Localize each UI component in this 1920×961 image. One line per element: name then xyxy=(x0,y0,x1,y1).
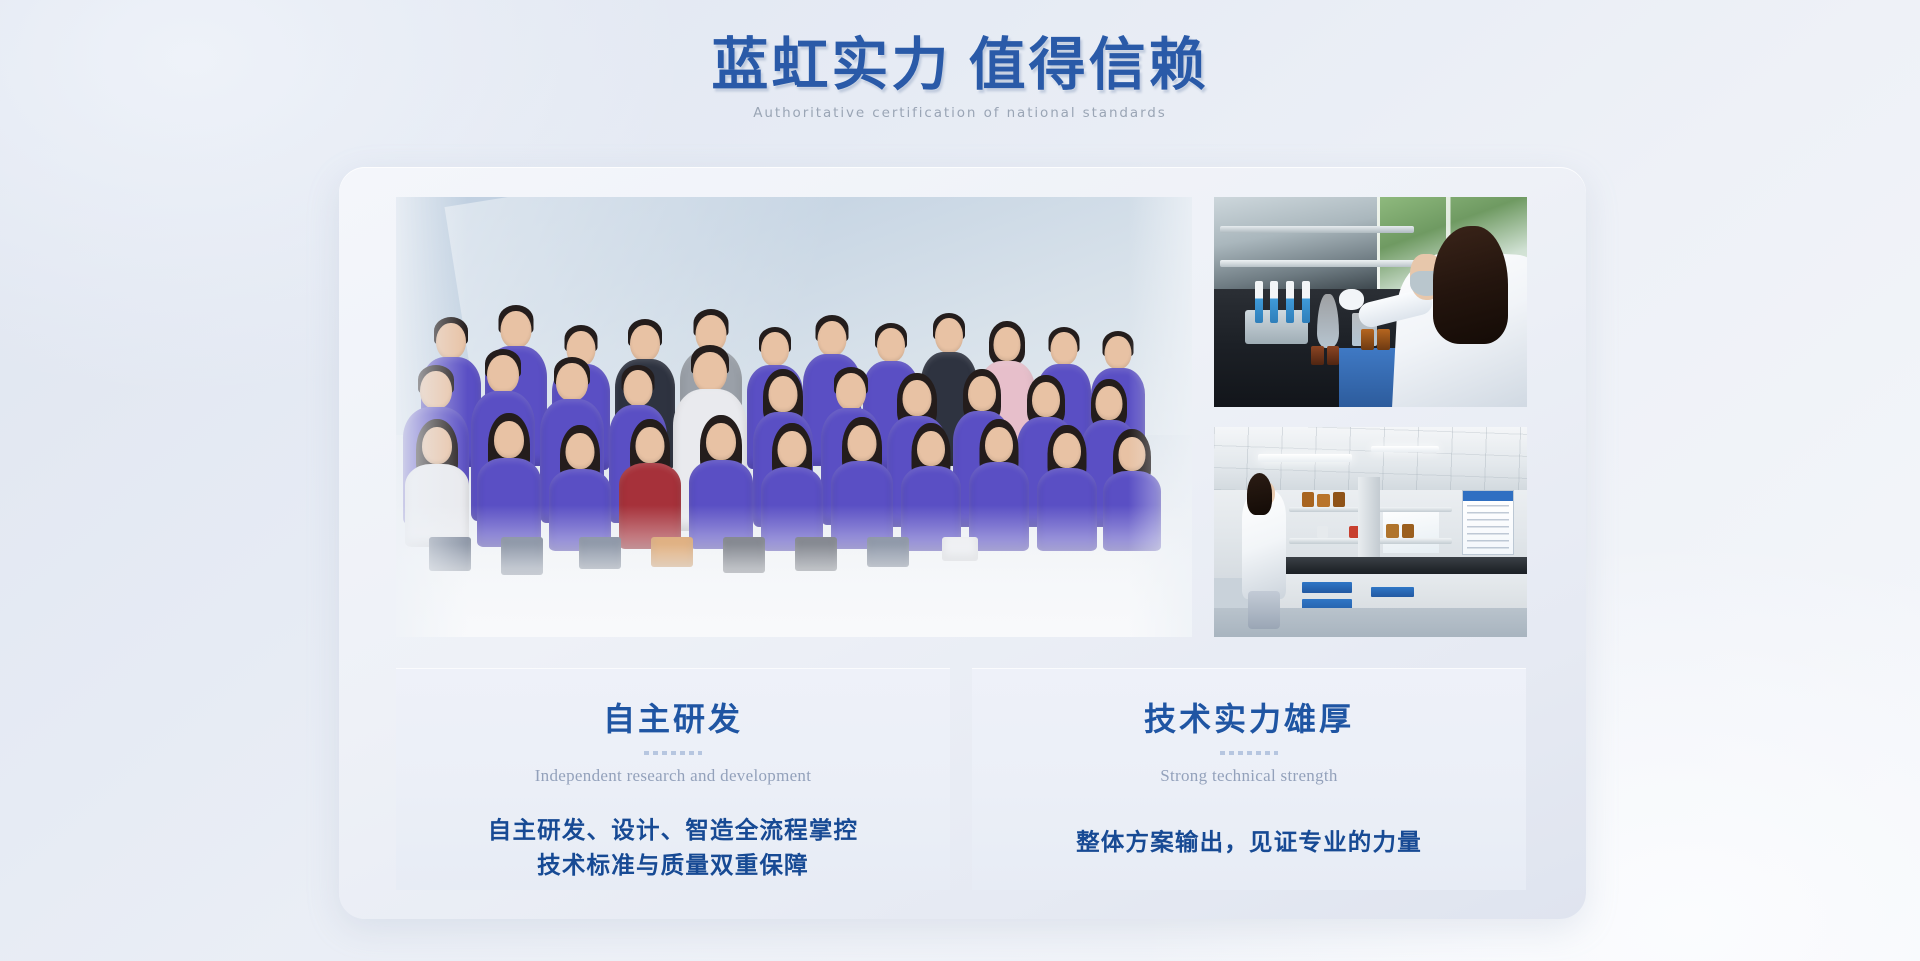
feature-english-subtitle: Strong technical strength xyxy=(972,766,1526,786)
feature-cards: 自主研发 Independent research and developmen… xyxy=(396,668,1527,890)
feature-description-line-2: 技术标准与质量双重保障 xyxy=(537,853,809,879)
safety-notice-poster xyxy=(1462,490,1514,555)
media-gallery xyxy=(396,197,1527,637)
amber-reagent-bottle xyxy=(1302,492,1315,507)
bench-drawer xyxy=(1371,587,1415,598)
reagent-bottle xyxy=(1402,524,1415,539)
page-subtitle: Authoritative certification of national … xyxy=(0,105,1920,121)
dashed-divider xyxy=(644,751,702,755)
side-photo-column xyxy=(1214,197,1527,637)
photo-edge-fade xyxy=(396,197,1192,637)
lower-shelf-rail xyxy=(1220,260,1420,267)
feature-card-independent-rd: 自主研发 Independent research and developmen… xyxy=(396,668,950,890)
ceiling-light xyxy=(1258,454,1352,461)
laboratory-overview-photo xyxy=(1214,427,1527,637)
amber-reagent-bottle xyxy=(1333,492,1346,507)
amber-vial xyxy=(1361,329,1374,350)
amber-reagent-bottle xyxy=(1317,494,1330,507)
pipette xyxy=(1255,281,1263,323)
technician-glove xyxy=(1339,289,1364,310)
pipette xyxy=(1286,281,1294,323)
feature-title: 自主研发 xyxy=(396,668,950,740)
content-panel: 自主研发 Independent research and developmen… xyxy=(339,167,1586,919)
pipette xyxy=(1302,281,1310,323)
technician-hair xyxy=(1247,473,1272,515)
feature-english-subtitle: Independent research and development xyxy=(396,766,950,786)
page-title: 蓝虹实力 值得信赖 xyxy=(0,0,1920,99)
feature-description: 整体方案输出，见证专业的力量 xyxy=(972,826,1526,861)
company-team-group-photo xyxy=(396,197,1192,637)
feature-description: 自主研发、设计、智造全流程掌控 技术标准与质量双重保障 xyxy=(396,814,950,884)
dashed-divider xyxy=(1220,751,1278,755)
reagent-bottle xyxy=(1327,346,1340,365)
feature-description-line-1: 整体方案输出，见证专业的力量 xyxy=(1076,830,1422,856)
technician-jeans xyxy=(1248,591,1279,629)
ceiling-light xyxy=(1371,446,1440,452)
technician-hair xyxy=(1433,226,1508,344)
lab-technician-pipetting-photo xyxy=(1214,197,1527,407)
amber-vial xyxy=(1377,329,1390,350)
reagent-bottle xyxy=(1317,526,1328,539)
page-root: 蓝虹实力 值得信赖 Authoritative certification of… xyxy=(0,0,1920,961)
lab-background-wall xyxy=(1214,197,1383,289)
reagent-bottle xyxy=(1386,524,1399,539)
upper-shelf-rail xyxy=(1220,226,1414,232)
bench-drawer xyxy=(1302,582,1352,593)
pipette xyxy=(1270,281,1278,323)
page-header: 蓝虹实力 值得信赖 Authoritative certification of… xyxy=(0,0,1920,121)
feature-title: 技术实力雄厚 xyxy=(972,668,1526,740)
reagent-bottle xyxy=(1311,346,1324,365)
feature-description-line-1: 自主研发、设计、智造全流程掌控 xyxy=(488,818,859,844)
feature-card-technical-strength: 技术实力雄厚 Strong technical strength 整体方案输出，… xyxy=(972,668,1526,890)
poster-text-lines xyxy=(1467,505,1509,549)
